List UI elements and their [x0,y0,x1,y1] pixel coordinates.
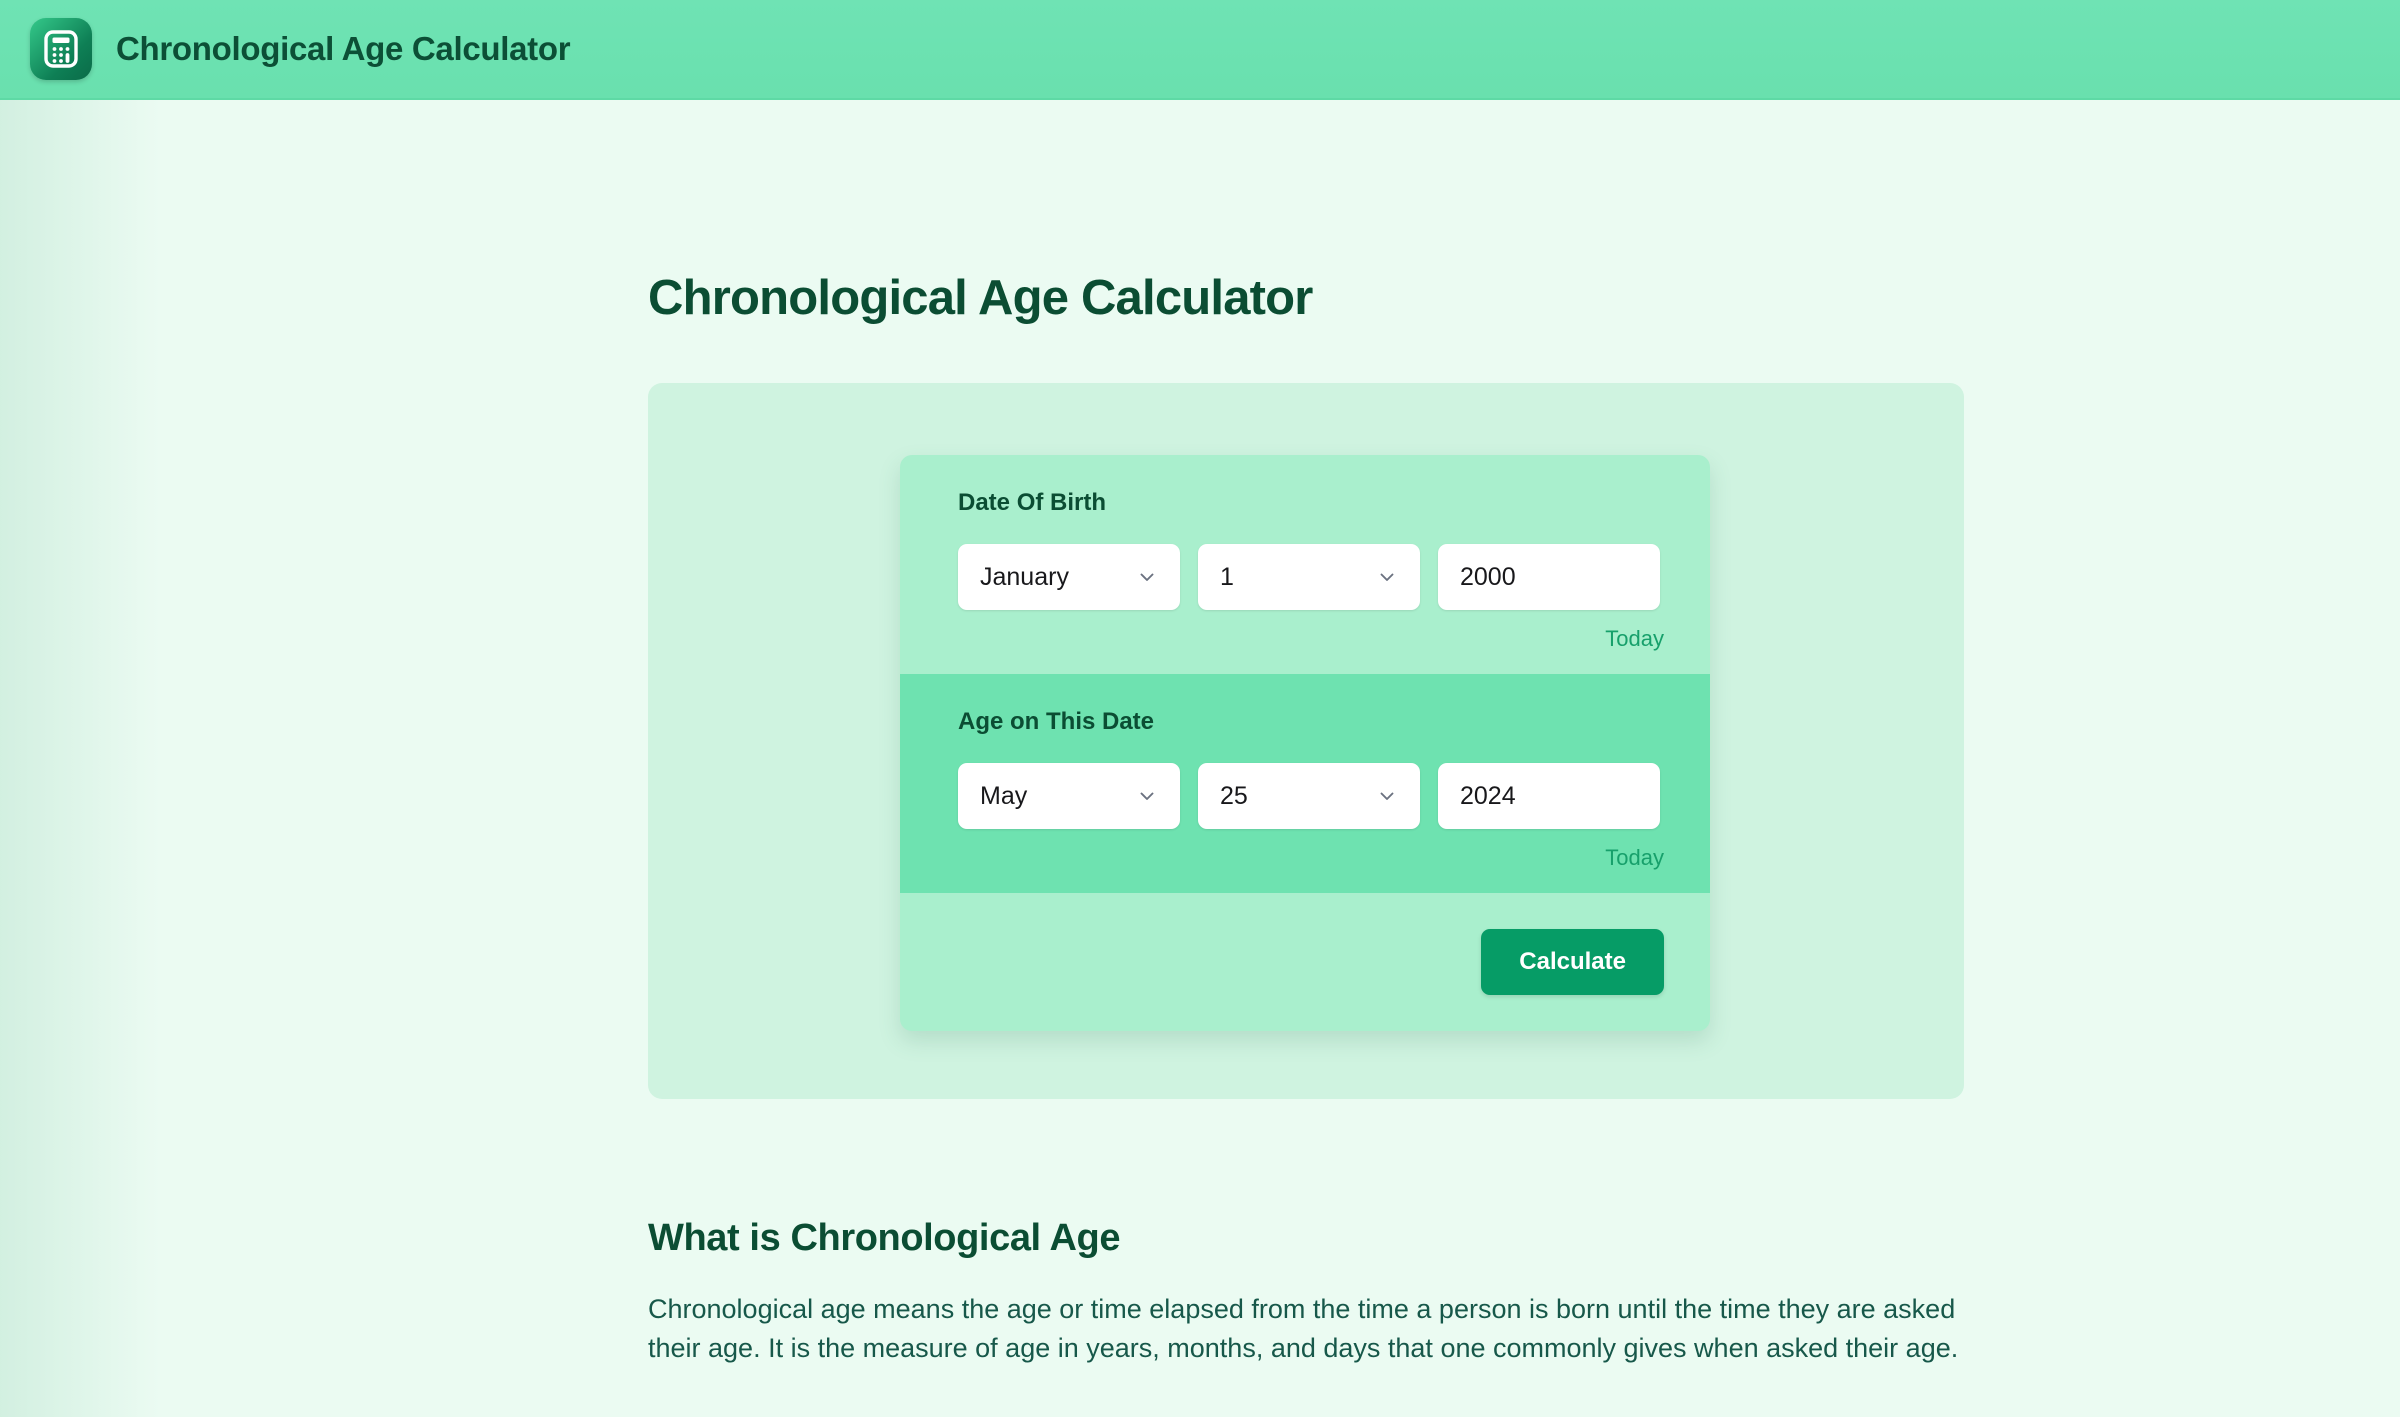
article-body: Chronological age means the age or time … [648,1290,1966,1369]
age-on-date-fields: May 25 [958,763,1664,829]
target-today-link[interactable]: Today [958,845,1664,871]
main-content: Chronological Age Calculator Date Of Bir… [0,270,2400,1369]
calculate-button[interactable]: Calculate [1481,929,1664,995]
target-year-value: 2024 [1460,782,1516,811]
chevron-down-icon [1136,785,1158,807]
date-of-birth-fields: January 1 [958,544,1664,610]
app-title: Chronological Age Calculator [116,30,570,68]
page-title: Chronological Age Calculator [648,270,2400,326]
calculator-card: Date Of Birth January 1 [648,383,1964,1099]
chevron-down-icon [1376,566,1398,588]
birth-month-value: January [980,563,1069,592]
article-heading: What is Chronological Age [648,1217,1964,1260]
birth-month-select[interactable]: January [958,544,1180,610]
target-year-input[interactable]: 2024 [1438,763,1660,829]
target-day-value: 25 [1220,782,1248,811]
birth-day-select[interactable]: 1 [1198,544,1420,610]
chevron-down-icon [1136,566,1158,588]
date-of-birth-label: Date Of Birth [958,489,1664,517]
chevron-down-icon [1376,785,1398,807]
age-on-date-section: Age on This Date May 25 [900,674,1710,893]
target-day-select[interactable]: 25 [1198,763,1420,829]
target-month-select[interactable]: May [958,763,1180,829]
birth-year-input[interactable]: 2000 [1438,544,1660,610]
calculator-actions: Calculate [900,893,1710,1031]
calculator-panel: Date Of Birth January 1 [900,455,1710,1031]
birth-today-link[interactable]: Today [958,626,1664,652]
birth-year-value: 2000 [1460,563,1516,592]
date-of-birth-section: Date Of Birth January 1 [900,455,1710,674]
app-header: Chronological Age Calculator [0,0,2400,100]
calculator-icon [30,18,92,80]
birth-day-value: 1 [1220,563,1234,592]
target-month-value: May [980,782,1027,811]
age-on-date-label: Age on This Date [958,708,1664,736]
article-section: What is Chronological Age Chronological … [648,1217,1964,1369]
